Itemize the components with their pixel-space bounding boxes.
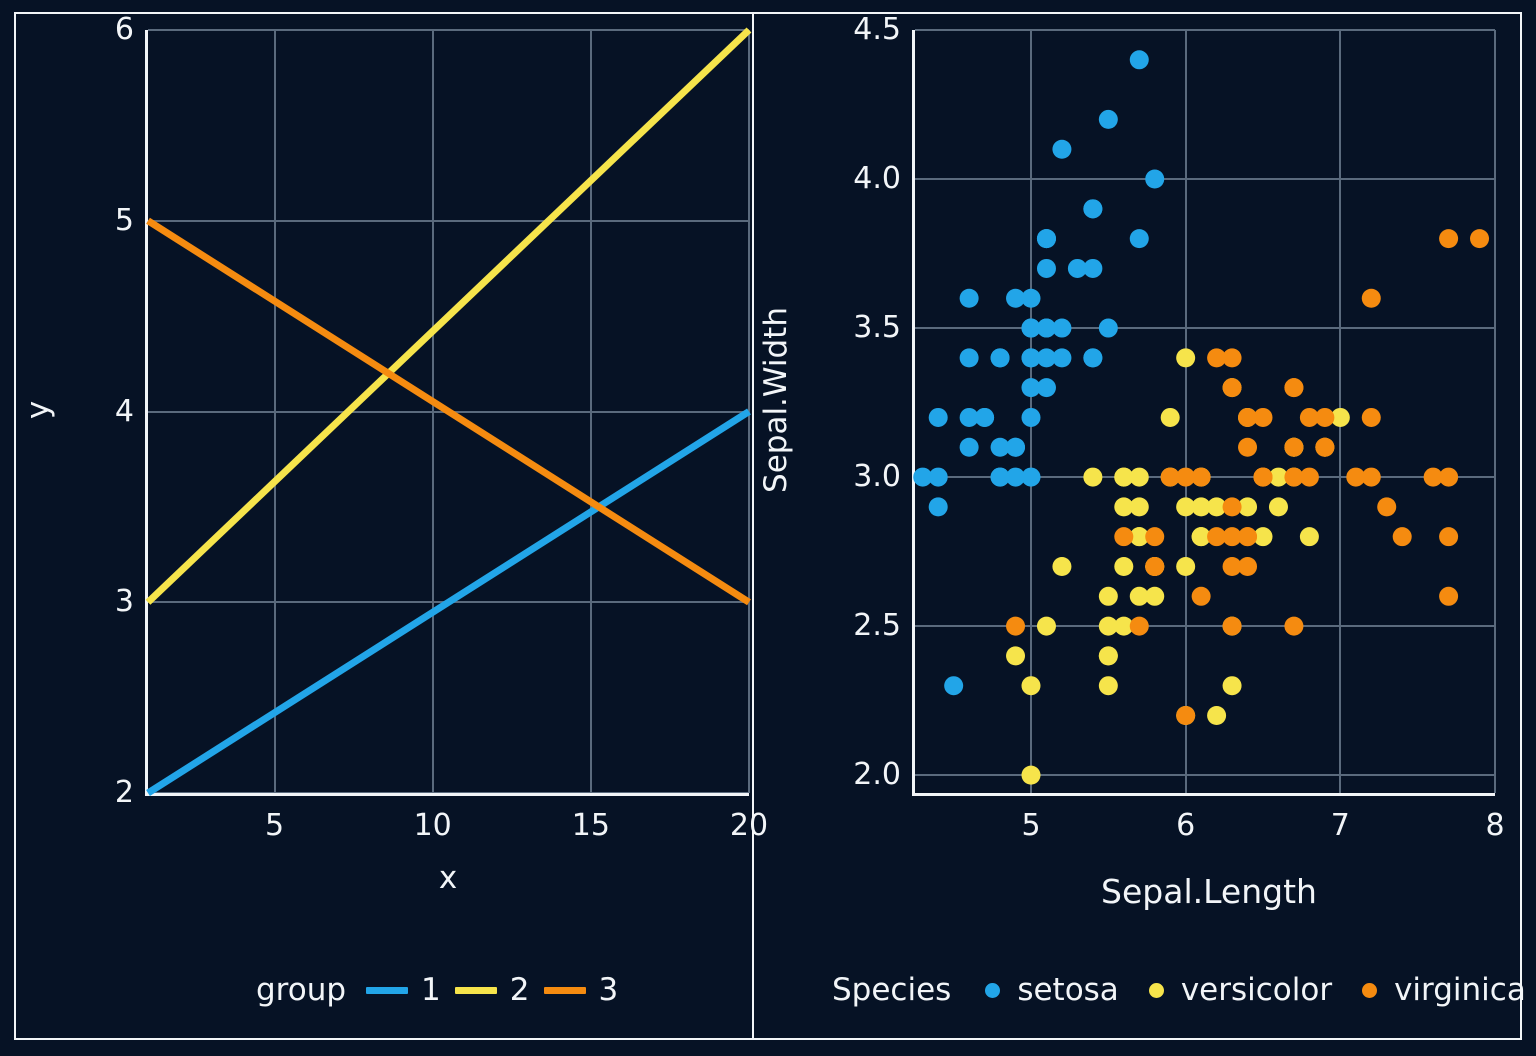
scatter-point-virginica [1362,289,1381,308]
scatter-point-virginica [1284,617,1303,636]
scatter-point-virginica [1223,527,1242,546]
scatter-point-setosa [991,468,1010,487]
scatter-point-virginica [1439,527,1458,546]
scatter-point-virginica [1377,497,1396,516]
x-tick-label: 8 [1485,811,1504,841]
scatter-point-setosa [1022,408,1041,427]
legend-item-label: 1 [421,972,441,1008]
scatter-point-virginica [1238,408,1257,427]
scatter-point-setosa [1006,289,1025,308]
line-plot-area [148,30,749,793]
scatter-plot-area [915,30,1495,793]
y-tick-label: 5 [115,206,134,236]
legend-dot-swatch-icon [1362,983,1377,998]
scatter-point-versicolor [1130,468,1149,487]
scatter-point-virginica [1176,706,1195,725]
scatter-point-versicolor [1176,348,1195,367]
legend-item-label: 2 [510,972,530,1008]
scatter-point-virginica [1362,408,1381,427]
y-tick-label: 4.5 [853,15,901,45]
scatter-point-setosa [1037,259,1056,278]
scatter-point-virginica [1223,557,1242,576]
legend-item[interactable]: 2 [455,972,530,1008]
scatter-point-virginica [1284,468,1303,487]
scatter-point-virginica [1300,408,1319,427]
scatter-point-virginica [1192,587,1211,606]
scatter-point-setosa [1022,319,1041,338]
y-tick-label: 3.0 [853,462,901,492]
scatter-point-setosa [1099,110,1118,129]
scatter-point-versicolor [1130,497,1149,516]
scatter-point-setosa [1006,438,1025,457]
left-x-axis-title: x [439,860,457,896]
scatter-point-virginica [1006,617,1025,636]
scatter-point-versicolor [1022,766,1041,785]
scatter-point-virginica [1114,527,1133,546]
scatter-point-versicolor [1207,706,1226,725]
scatter-point-versicolor [1006,646,1025,665]
scatter-point-virginica [1223,497,1242,516]
scatter-point-setosa [1099,319,1118,338]
scatter-point-setosa [929,497,948,516]
scatter-point-versicolor [1099,587,1118,606]
scatter-point-setosa [929,408,948,427]
scatter-point-virginica [1145,527,1164,546]
scatter-point-versicolor [1037,617,1056,636]
scatter-point-virginica [1161,468,1180,487]
scatter-point-virginica [1284,438,1303,457]
scatter-point-versicolor [1052,557,1071,576]
figure-root: y x group 123 510152023456 Sepal.Width S… [0,0,1536,1056]
scatter-point-virginica [1470,229,1489,248]
scatter-point-setosa [1052,140,1071,159]
scatter-point-setosa [1145,170,1164,189]
scatter-point-setosa [1037,348,1056,367]
scatter-point-versicolor [1223,676,1242,695]
right-y-axis-title: Sepal.Width [758,307,794,493]
scatter-point-setosa [1037,229,1056,248]
scatter-point-setosa [1022,378,1041,397]
legend-item[interactable]: virginica [1362,972,1526,1008]
scatter-chart-panel: Sepal.Width Sepal.Length Species setosav… [754,0,1536,1056]
scatter-point-virginica [1145,557,1164,576]
scatter-point-versicolor [1083,468,1102,487]
x-tick-label: 5 [1021,811,1040,841]
x-tick-label: 5 [265,811,284,841]
y-tick-label: 4 [115,397,134,427]
scatter-point-versicolor [1269,497,1288,516]
x-tick-label: 7 [1331,811,1350,841]
scatter-point-setosa [1130,229,1149,248]
legend-item[interactable]: setosa [985,972,1119,1008]
scatter-point-versicolor [1300,527,1319,546]
scatter-point-virginica [1439,229,1458,248]
y-tick-label: 6 [115,15,134,45]
scatter-point-virginica [1254,468,1273,487]
legend-item[interactable]: 3 [544,972,619,1008]
legend-item[interactable]: 1 [366,972,441,1008]
scatter-point-setosa [1068,259,1087,278]
scatter-point-setosa [1052,319,1071,338]
x-tick-label: 15 [572,811,610,841]
scatter-point-virginica [1362,468,1381,487]
right-x-axis-title: Sepal.Length [1101,872,1317,911]
legend-line-swatch-icon [455,987,497,994]
species-legend: Species setosaversicolorvirginica [832,972,1536,1008]
scatter-point-virginica [1393,527,1412,546]
scatter-series-layer [915,30,1495,793]
scatter-point-setosa [960,289,979,308]
legend-title: group [256,972,346,1008]
legend-item-label: 3 [599,972,619,1008]
legend-line-swatch-icon [544,987,586,994]
scatter-point-versicolor [1176,557,1195,576]
left-y-axis-title: y [20,401,56,419]
group-legend: group 123 [256,972,632,1008]
scatter-point-versicolor [1161,408,1180,427]
scatter-point-virginica [1439,468,1458,487]
scatter-point-setosa [1022,468,1041,487]
legend-dot-swatch-icon [1149,983,1164,998]
scatter-point-setosa [929,468,948,487]
scatter-point-setosa [960,408,979,427]
scatter-point-virginica [1223,378,1242,397]
scatter-point-virginica [1284,378,1303,397]
legend-item-label: virginica [1394,972,1526,1008]
scatter-point-setosa [1083,348,1102,367]
scatter-point-setosa [960,438,979,457]
scatter-point-versicolor [1022,676,1041,695]
y-tick-label: 2.0 [853,760,901,790]
x-axis-line [148,793,749,796]
scatter-point-virginica [1207,348,1226,367]
scatter-point-versicolor [1114,557,1133,576]
line-series-2 [148,30,749,602]
y-tick-label: 3 [115,587,134,617]
x-tick-label: 6 [1176,811,1195,841]
scatter-point-versicolor [1145,587,1164,606]
scatter-point-setosa [1130,50,1149,69]
scatter-point-versicolor [1176,497,1195,516]
y-tick-label: 3.5 [853,313,901,343]
legend-item-label: setosa [1017,972,1119,1008]
y-tick-label: 4.0 [853,164,901,194]
legend-dot-swatch-icon [985,983,1000,998]
scatter-point-setosa [960,348,979,367]
scatter-point-virginica [1439,587,1458,606]
legend-line-swatch-icon [366,987,408,994]
x-axis-line [915,793,1495,796]
scatter-point-versicolor [1099,617,1118,636]
line-series-1 [148,412,749,794]
legend-item[interactable]: versicolor [1149,972,1332,1008]
y-tick-label: 2 [115,778,134,808]
scatter-point-virginica [1130,617,1149,636]
legend-title: Species [832,972,951,1008]
scatter-point-versicolor [1099,646,1118,665]
scatter-point-virginica [1315,438,1334,457]
line-chart-panel: y x group 123 510152023456 [16,0,752,1056]
scatter-point-versicolor [1099,676,1118,695]
line-series-3 [148,221,749,603]
legend-item-label: versicolor [1181,972,1332,1008]
x-tick-label: 10 [414,811,452,841]
scatter-point-virginica [1223,617,1242,636]
scatter-point-setosa [1083,199,1102,218]
line-series-layer [148,30,749,793]
scatter-point-virginica [1238,438,1257,457]
scatter-point-setosa [991,348,1010,367]
y-tick-label: 2.5 [853,611,901,641]
scatter-point-setosa [944,676,963,695]
